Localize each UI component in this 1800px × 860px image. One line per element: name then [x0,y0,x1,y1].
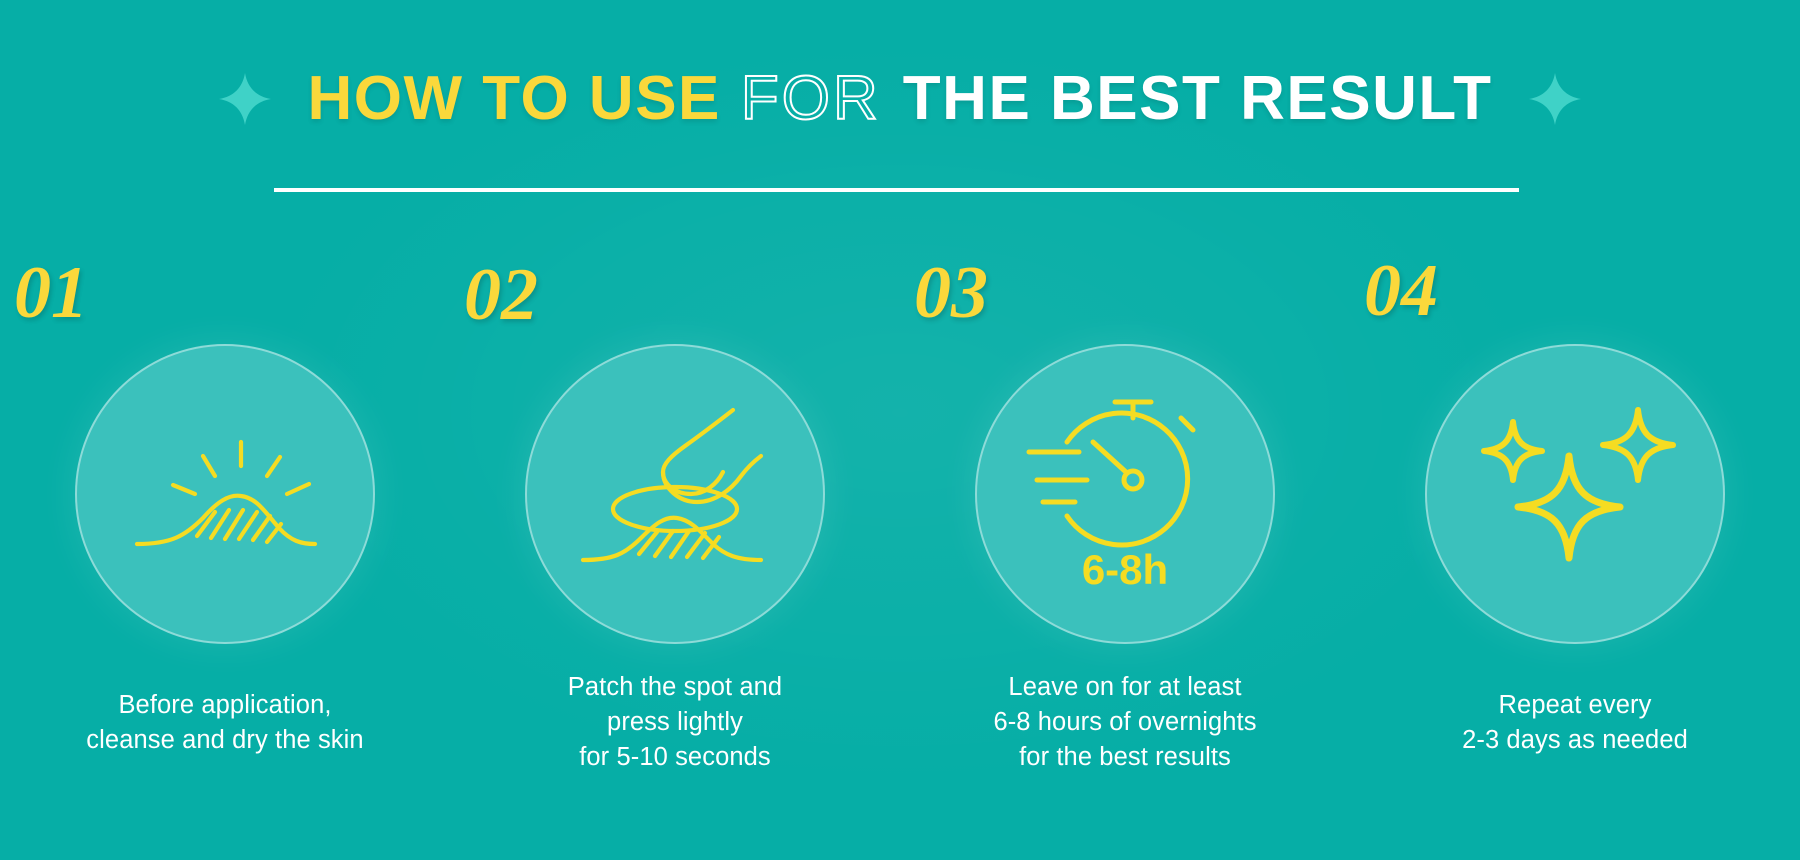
step-caption: Leave on for at least 6-8 hours of overn… [993,670,1256,776]
finger-press-patch-icon [565,384,785,604]
sparkles-icon [1465,384,1685,604]
sparkle-icon [1527,71,1583,127]
title-plain: THE BEST RESULT [903,68,1493,130]
step-03: 03 [900,268,1350,776]
title-underline [274,188,1519,192]
step-icon-circle [1425,344,1725,644]
step-number: 03 [914,256,988,330]
title-highlight: HOW TO USE [307,68,720,130]
step-number: 01 [14,256,88,330]
step-icon-circle [525,344,825,644]
step-caption: Repeat every 2-3 days as needed [1462,688,1688,758]
step-icon-circle: 6-8h [975,344,1275,644]
page-title: HOW TO USE FOR THE BEST RESULT [307,68,1492,130]
infographic-canvas: HOW TO USE FOR THE BEST RESULT 01 [0,0,1800,860]
skin-bump-icon [115,384,335,604]
stopwatch-icon: 6-8h [1015,384,1235,604]
stopwatch-duration-label: 6-8h [1082,546,1168,593]
step-04: 04 Repeat every 2-3 days as needed [1350,268,1800,776]
step-caption: Patch the spot and press lightly for 5-1… [568,670,782,776]
title-outline: FOR [741,68,881,130]
sparkle-icon [217,71,273,127]
step-number: 02 [464,258,538,332]
step-02: 02 [450,268,900,776]
step-caption: Before application, cleanse and dry the … [86,688,363,758]
steps-row: 01 [0,268,1800,776]
step-number: 04 [1364,254,1438,328]
step-icon-circle [75,344,375,644]
step-01: 01 [0,268,450,776]
header: HOW TO USE FOR THE BEST RESULT [0,68,1800,130]
